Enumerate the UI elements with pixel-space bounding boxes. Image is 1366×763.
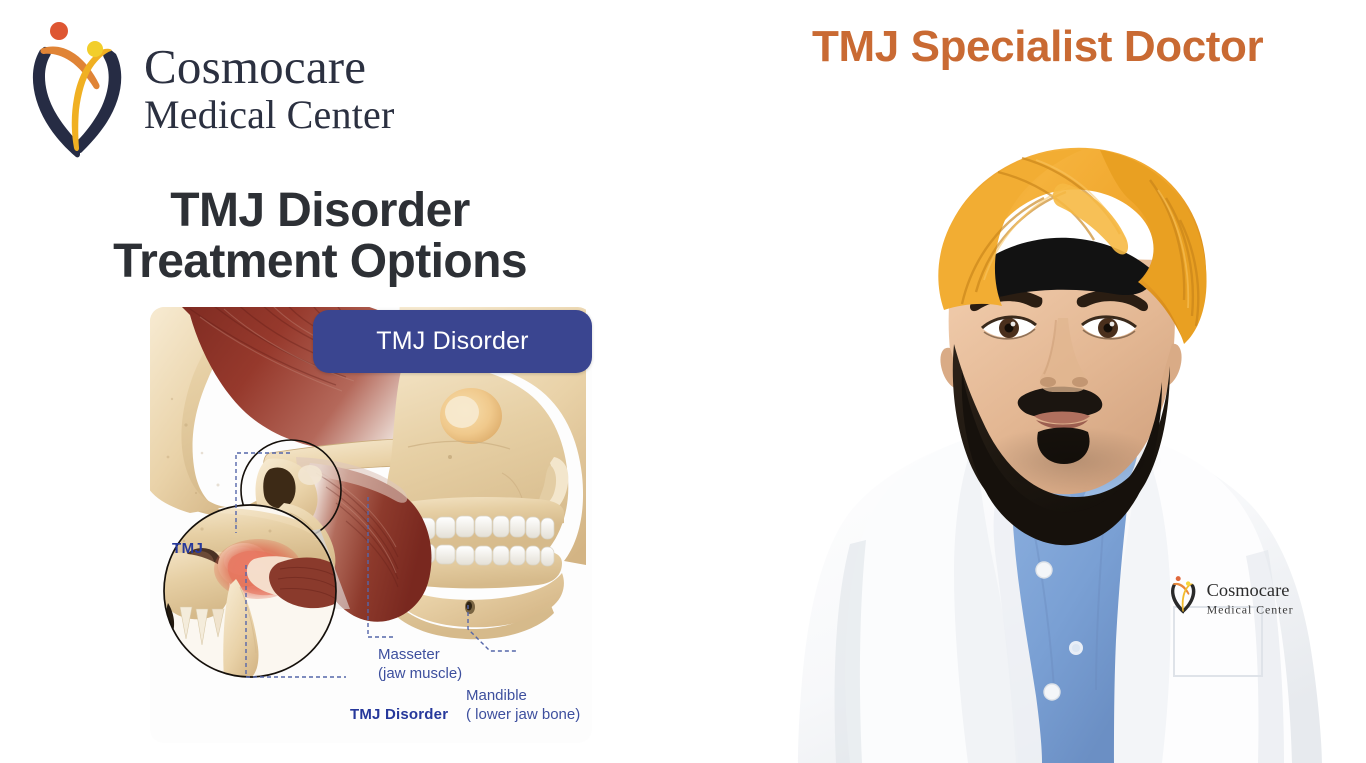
brand-line-1: Cosmocare: [144, 42, 394, 91]
coat-logo-line-2: Medical Center: [1207, 603, 1294, 617]
brand-wordmark: Cosmocare Medical Center: [144, 42, 394, 135]
page-title: TMJ Specialist Doctor: [812, 22, 1263, 72]
label-mandible: Mandible ( lower jaw bone): [466, 686, 580, 724]
label-masseter: Masseter (jaw muscle): [378, 645, 462, 683]
brand-line-2: Medical Center: [144, 95, 394, 135]
label-tmj: TMJ: [172, 540, 203, 557]
tmj-disorder-badge-label: TMJ Disorder: [376, 327, 528, 356]
label-tmj-disorder: TMJ Disorder: [350, 706, 448, 723]
tmj-disorder-badge: TMJ Disorder: [313, 310, 592, 373]
poster-canvas: Cosmocare Medical Center TMJ Specialist …: [0, 0, 1366, 763]
coat-logo-line-1: Cosmocare: [1207, 580, 1290, 600]
brand-logo: Cosmocare Medical Center: [22, 18, 394, 158]
left-heading-line-2: Treatment Options: [20, 237, 620, 288]
left-heading: TMJ Disorder Treatment Options: [20, 186, 620, 288]
left-heading-line-1: TMJ Disorder: [170, 184, 470, 237]
doctor-portrait: Cosmocare Medical Center: [770, 120, 1350, 763]
cosmocare-heart-logo-icon: [22, 18, 134, 158]
